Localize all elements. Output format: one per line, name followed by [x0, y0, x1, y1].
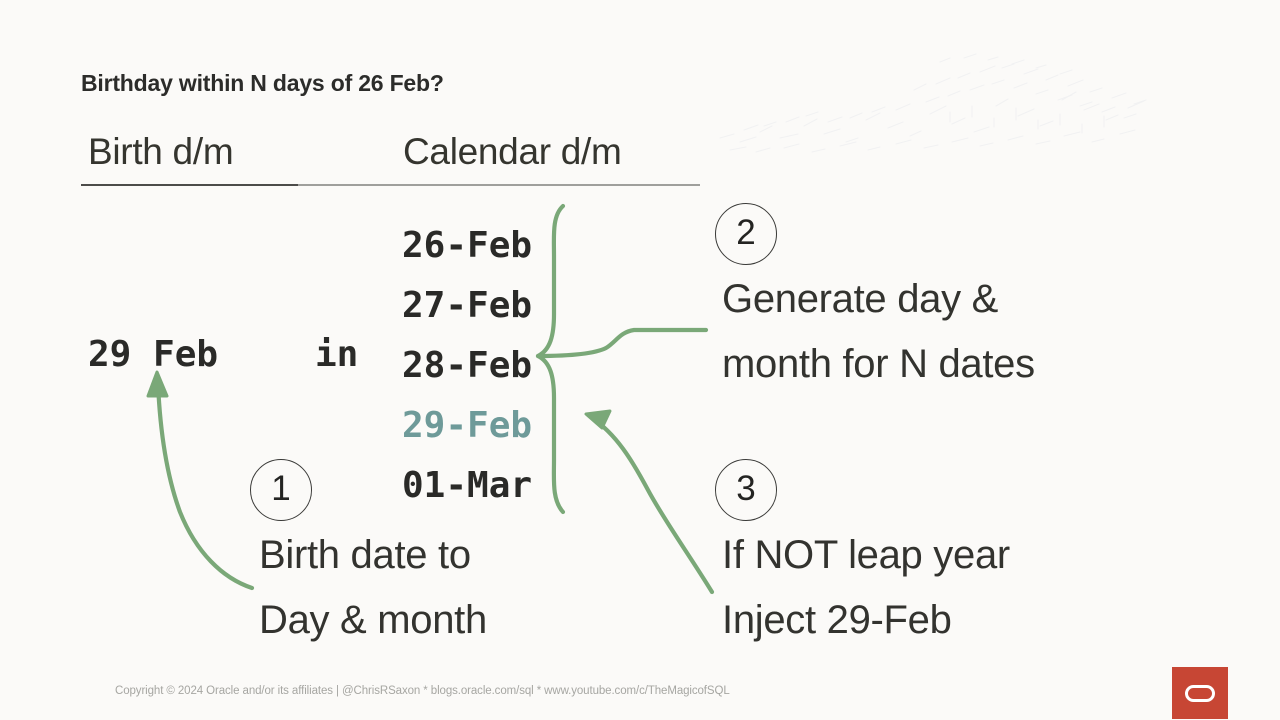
annotation-3-line-2: Inject 29-Feb — [722, 590, 1010, 651]
brace-date-range — [538, 206, 563, 512]
step-badge-1: 1 — [250, 459, 312, 521]
oracle-ring-icon — [1185, 685, 1215, 702]
annotation-1: 1 Birth date to Day & month — [250, 459, 487, 651]
list-item-highlighted: 29-Feb — [402, 396, 532, 456]
list-item: 27-Feb — [402, 276, 532, 336]
annotation-3-line-1: If NOT leap year — [722, 525, 1010, 586]
annotation-1-line-2: Day & month — [259, 590, 487, 651]
header-rule-right — [298, 184, 700, 186]
step-badge-3: 3 — [715, 459, 777, 521]
arrow-to-leap-day-shaft — [592, 418, 712, 592]
header-rule-left — [81, 184, 298, 186]
birth-date-value: 29 Feb — [88, 334, 218, 375]
column-header-birth: Birth d/m — [88, 131, 233, 173]
oracle-logo — [1172, 667, 1228, 719]
step-number: 3 — [736, 471, 755, 506]
step-number: 2 — [736, 215, 755, 250]
arrowhead-leap-day — [586, 411, 610, 428]
page-title: Birthday within N days of 26 Feb? — [81, 70, 444, 97]
arrow-to-birth-value-shaft — [158, 384, 252, 588]
slide-canvas: Birthday within N days of 26 Feb? Birth … — [0, 0, 1280, 720]
in-operator: in — [315, 334, 358, 375]
arrowhead-birth-value — [148, 372, 167, 396]
step-number: 1 — [271, 471, 290, 506]
annotation-2-line-1: Generate day & — [722, 269, 1035, 330]
annotation-1-line-1: Birth date to — [259, 525, 487, 586]
decorative-texture — [700, 46, 1170, 158]
list-item: 28-Feb — [402, 336, 532, 396]
annotation-3: 3 If NOT leap year Inject 29-Feb — [715, 459, 1010, 651]
step-badge-2: 2 — [715, 203, 777, 265]
list-item: 26-Feb — [402, 216, 532, 276]
brace-pointer-to-annotation-2 — [538, 330, 706, 356]
annotation-2-line-2: month for N dates — [722, 334, 1035, 395]
footer-copyright: Copyright © 2024 Oracle and/or its affil… — [115, 685, 730, 697]
column-header-calendar: Calendar d/m — [403, 131, 622, 173]
annotation-2: 2 Generate day & month for N dates — [715, 203, 1035, 395]
